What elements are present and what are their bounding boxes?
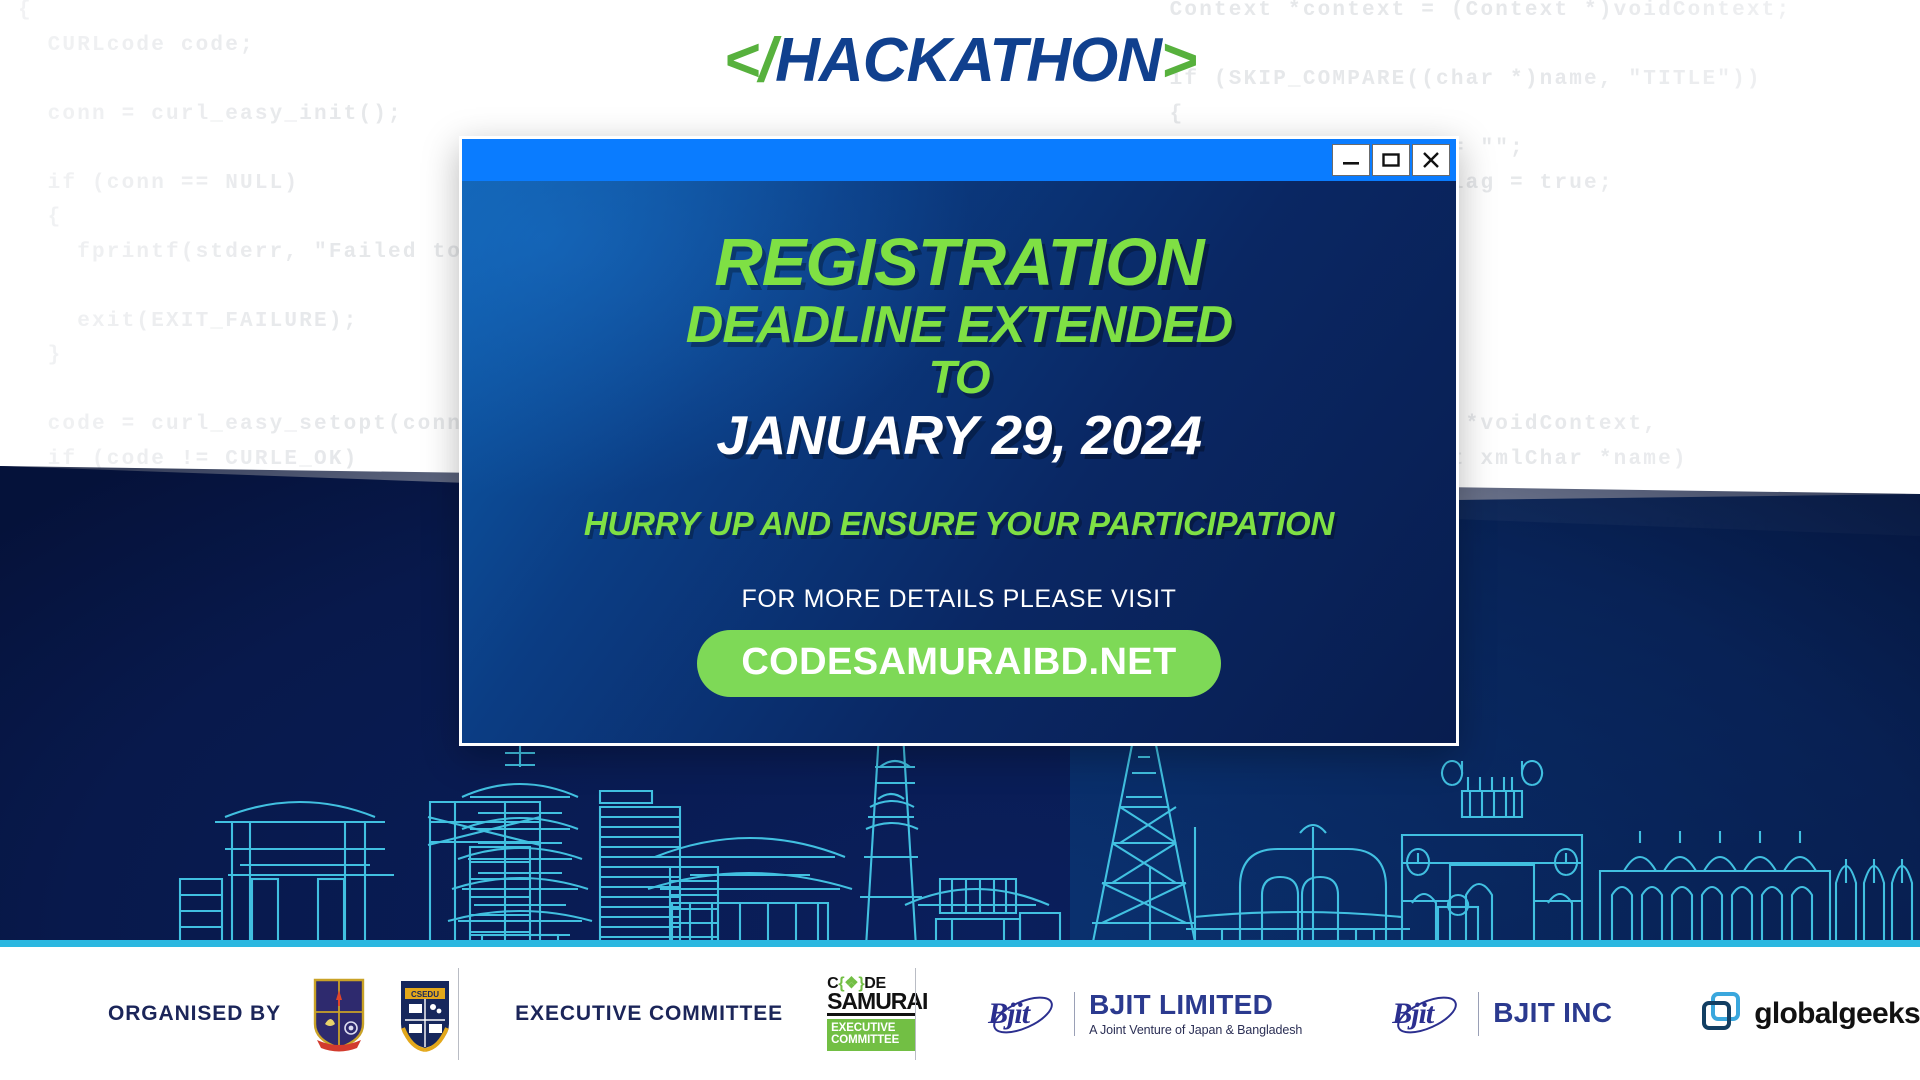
csedu-band-text: CSEDU — [411, 990, 439, 999]
bjit-inc-separator — [1478, 992, 1479, 1036]
deadline-date: JANUARY 29, 2024 — [716, 403, 1201, 467]
bjit-inc-name: BJIT INC — [1493, 998, 1612, 1029]
organised-by-label: ORGANISED BY — [108, 1002, 281, 1026]
globalgeeks-squares-icon — [1700, 990, 1742, 1037]
minimize-button[interactable] — [1332, 144, 1370, 176]
bjit-inc-logo: Bjit BJIT INC — [1390, 986, 1612, 1042]
badge-line-2: COMMITTEE — [831, 1034, 911, 1046]
bjit-inc-mark-icon: Bjit — [1390, 986, 1464, 1042]
bjit-separator — [1074, 992, 1075, 1036]
globalgeeks-logo: globalgeeks — [1700, 990, 1920, 1037]
headline-to: TO — [928, 354, 989, 401]
headline-deadline-extended: DEADLINE EXTENDED — [686, 299, 1232, 352]
website-cta-button[interactable]: CODESAMURAIBD.NET — [697, 630, 1220, 697]
hackathon-logo: </HACKATHON> — [0, 30, 1920, 92]
sponsors-section: Bjit BJIT LIMITED A Joint Venture of Jap… — [916, 947, 1920, 1080]
bottom-accent-bar — [0, 940, 1920, 947]
badge-line-1: EXECUTIVE — [831, 1022, 911, 1034]
organised-by-section: ORGANISED BY CSEDU — [0, 947, 458, 1080]
code-samurai-samurai-text: SAMURAI — [827, 991, 915, 1016]
code-close-bracket-icon: > — [1161, 26, 1196, 95]
bjit-limited-tagline: A Joint Venture of Japan & Bangladesh — [1089, 1024, 1302, 1038]
hackathon-logo-text: HACKATHON — [775, 26, 1161, 95]
poster-stage: { CURLcode code; conn = curl_easy_init()… — [0, 0, 1920, 1080]
csedu-crest-icon: CSEDU — [397, 976, 453, 1052]
bjit-mark-icon: Bjit — [986, 986, 1060, 1042]
executive-committee-badge: EXECUTIVE COMMITTEE — [827, 1019, 915, 1050]
announcement-window: REGISTRATION DEADLINE EXTENDED TO JANUAR… — [459, 136, 1459, 746]
bjit-limited-name: BJIT LIMITED — [1089, 990, 1302, 1021]
sponsor-footer: ORGANISED BY CSEDU — [0, 947, 1920, 1080]
maximize-button[interactable] — [1372, 144, 1410, 176]
close-button[interactable] — [1412, 144, 1450, 176]
du-crest-icon — [311, 976, 367, 1052]
code-open-bracket-icon: </ — [724, 26, 775, 95]
headline-registration: REGISTRATION — [714, 229, 1203, 297]
executive-committee-label: EXECUTIVE COMMITTEE — [515, 1002, 783, 1026]
globalgeeks-name: globalgeeks — [1754, 997, 1920, 1031]
bjit-limited-logo: Bjit BJIT LIMITED A Joint Venture of Jap… — [986, 986, 1302, 1042]
subheadline-hurry-up: HURRY UP AND ENSURE YOUR PARTICIPATION — [584, 505, 1334, 543]
visit-label: FOR MORE DETAILS PLEASE VISIT — [741, 585, 1176, 614]
code-samurai-logo: C{❖}DE SAMURAI EXECUTIVE COMMITTEE — [827, 976, 915, 1050]
executive-committee-section: EXECUTIVE COMMITTEE C{❖}DE SAMURAI EXECU… — [459, 947, 915, 1080]
window-titlebar[interactable] — [462, 139, 1456, 181]
window-body: REGISTRATION DEADLINE EXTENDED TO JANUAR… — [462, 181, 1456, 743]
